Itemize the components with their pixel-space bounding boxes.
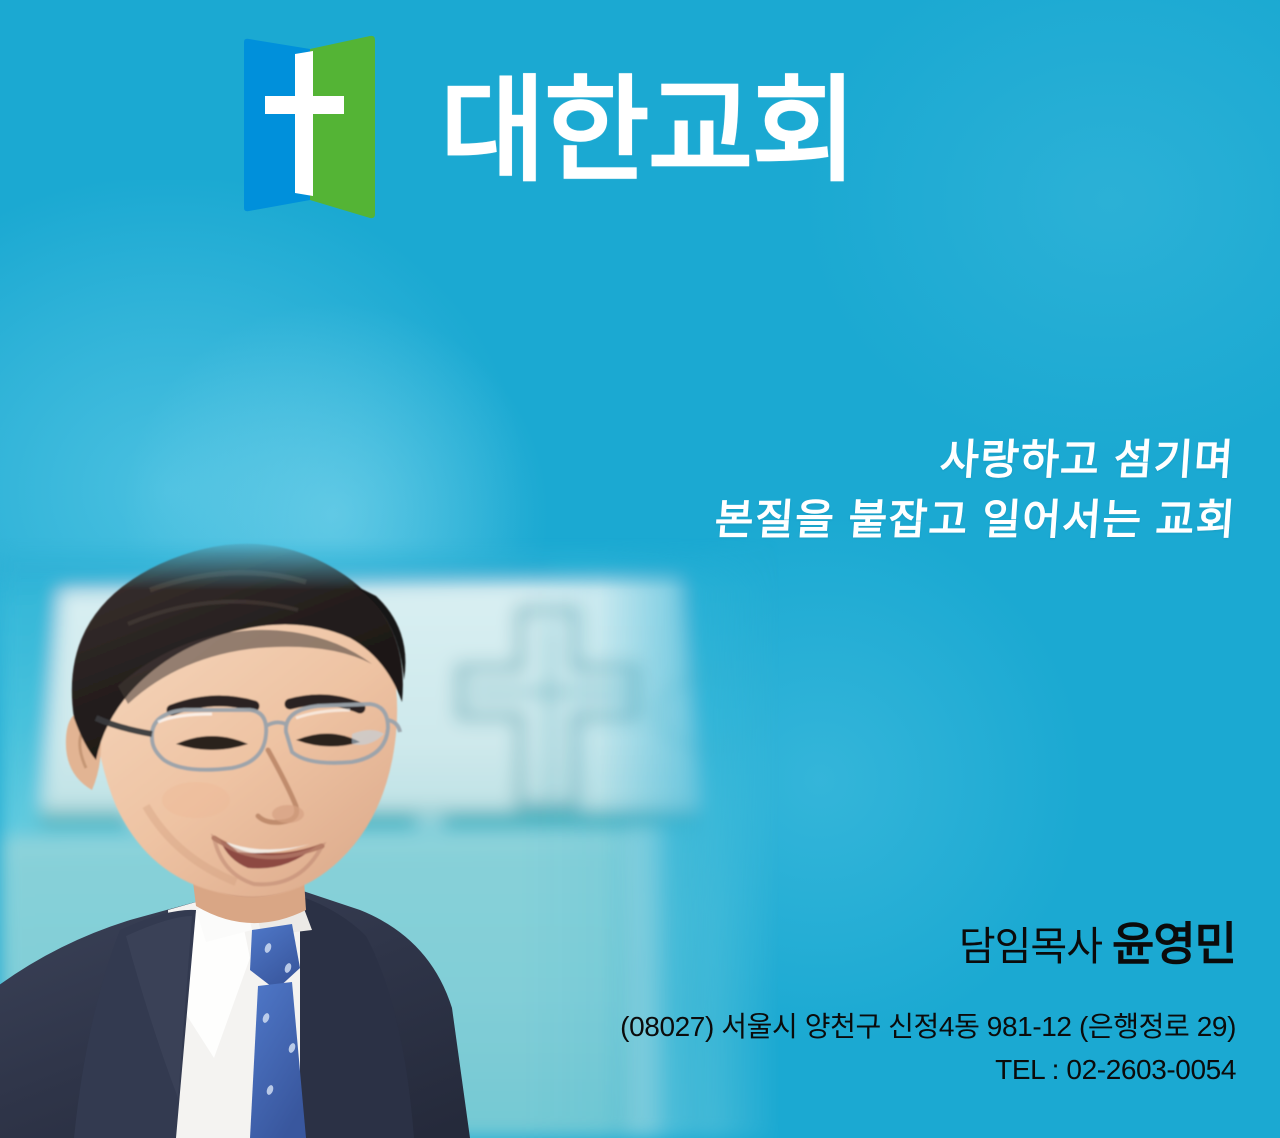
open-door-cross-logo-icon [238,28,388,228]
church-name: 대한교회 [440,74,855,189]
church-tagline: 사랑하고 섬기며 본질을 붙잡고 일어서는 교회 [713,430,1243,549]
brand-lockup: 대한교회 [238,28,855,228]
church-poster: 대한교회 사랑하고 섬기며 본질을 붙잡고 일어서는 교회 담임목사윤영민 (0… [0,0,1280,1138]
tagline-line-2: 본질을 붙잡고 일어서는 교회 [713,490,1238,550]
church-address: (08027) 서울시 양천구 신정4동 981-12 (은행정로 29) [620,1006,1236,1049]
pastor-role: 담임목사 [959,925,1102,969]
pastor-name: 윤영민 [1112,918,1236,970]
tagline-line-1: 사랑하고 섬기며 [717,430,1236,490]
background-glow-topright [800,0,1280,460]
contact-block: (08027) 서울시 양천구 신정4동 981-12 (은행정로 29) TE… [620,1006,1236,1091]
church-phone[interactable]: TEL : 02-2603-0054 [620,1049,1236,1092]
pastor-credit: 담임목사윤영민 [959,908,1236,974]
